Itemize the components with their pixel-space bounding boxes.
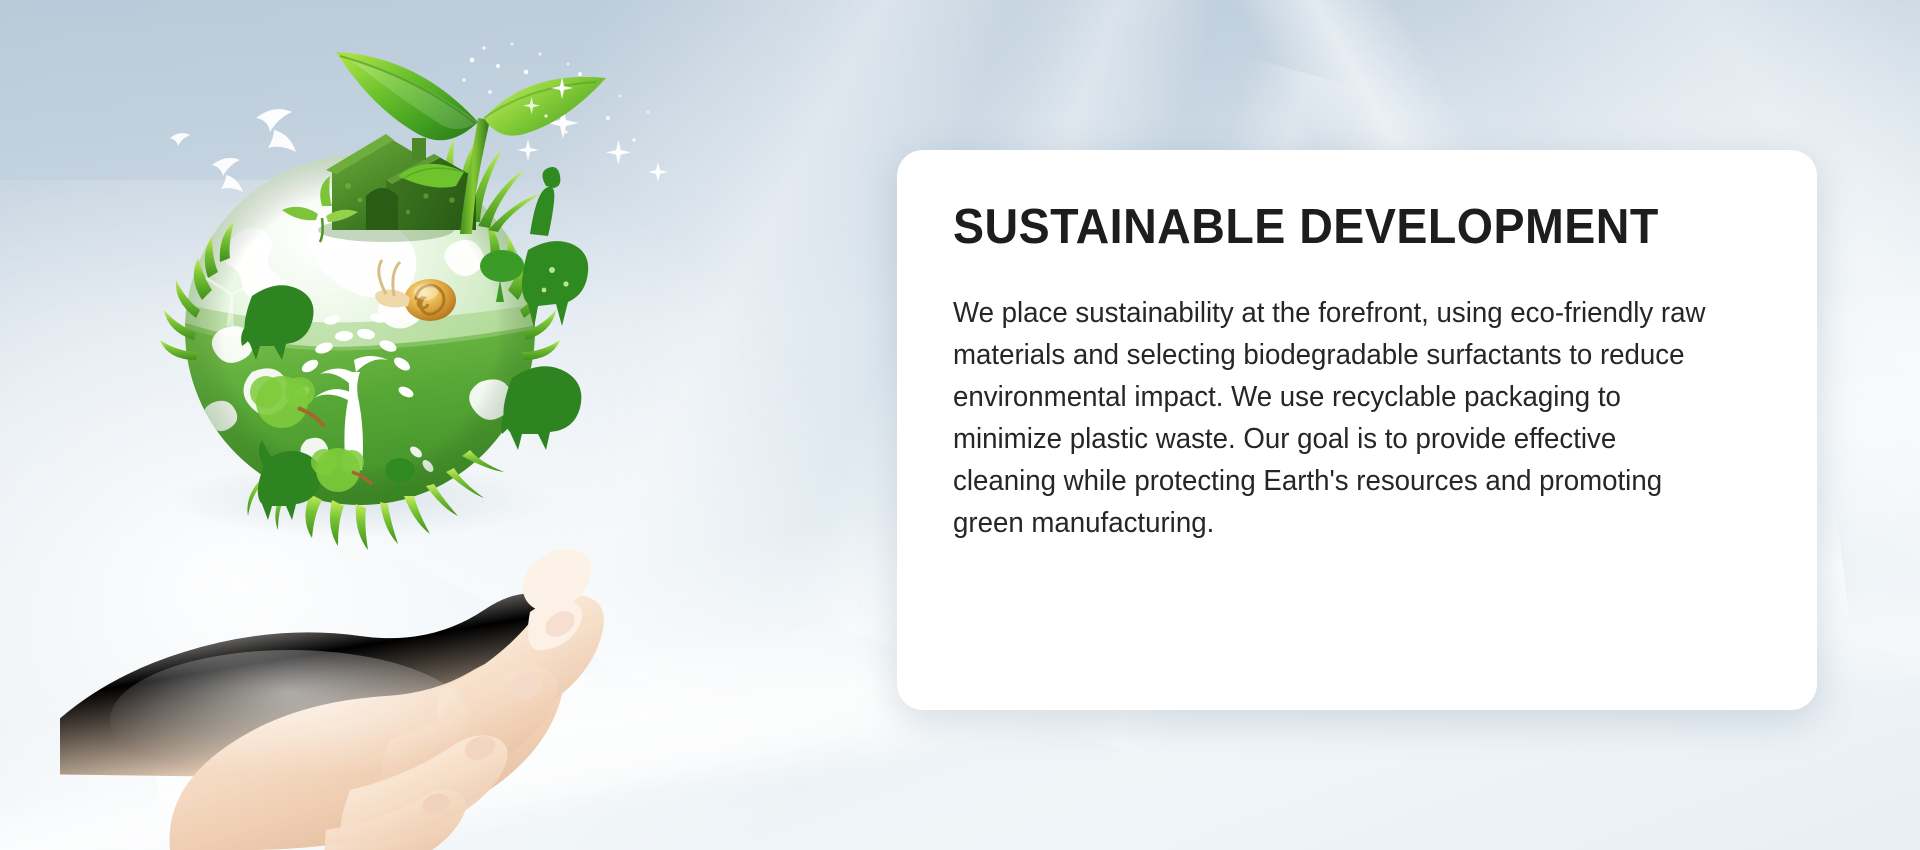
sustainable-development-banner: SUSTAINABLE DEVELOPMENT We place sustain… (0, 0, 1920, 850)
card-body-text: We place sustainability at the forefront… (953, 293, 1719, 544)
elephant-silhouette-right (501, 366, 581, 450)
eco-globe-illustration (60, 0, 780, 850)
giraffe-silhouette (522, 167, 588, 328)
cupped-hands (60, 549, 604, 850)
sustainable-development-card: SUSTAINABLE DEVELOPMENT We place sustain… (897, 150, 1817, 710)
page-title: SUSTAINABLE DEVELOPMENT (953, 202, 1717, 253)
